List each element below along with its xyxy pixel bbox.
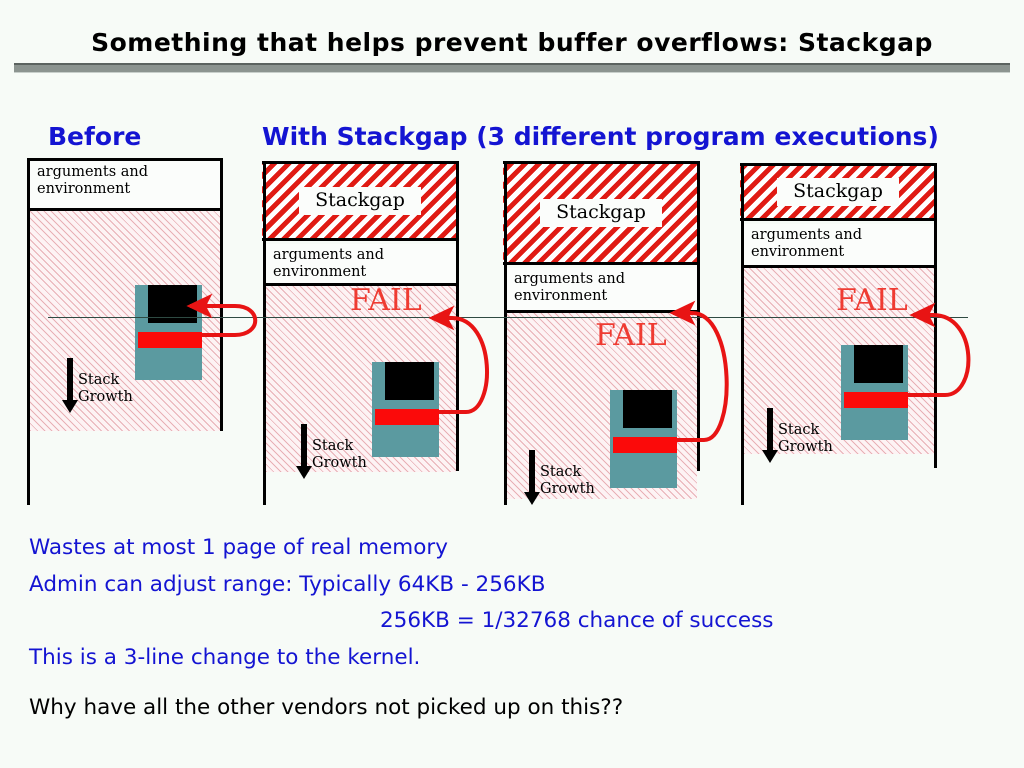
page-title: Something that helps prevent buffer over… (0, 28, 1024, 57)
col2-stack-frame (372, 362, 439, 457)
col4-right-rail (934, 163, 937, 468)
col4-args-env-label: arguments and environment (744, 224, 934, 271)
col4-stackgap-region: Stackgap (740, 163, 936, 221)
col4-stack-frame (841, 345, 908, 440)
col2-stackgap-label: Stackgap (299, 187, 421, 215)
col4-left-rail (741, 163, 744, 505)
col1-overflow-bar (138, 332, 202, 348)
col4-fail-label: FAIL (836, 283, 908, 318)
overflow-reference-line (48, 317, 968, 318)
col4-return-address-block (854, 345, 903, 383)
slide-canvas: Something that helps prevent buffer over… (0, 0, 1024, 768)
note-line-5: Why have all the other vendors not picke… (29, 695, 623, 720)
col2-return-address-block (385, 362, 434, 400)
col3-stack-growth-label: Stack Growth (540, 464, 595, 498)
col3-left-rail (504, 161, 507, 505)
col1-right-rail (220, 158, 223, 431)
col3-stackgap-label: Stackgap (540, 199, 662, 227)
col1-stack-growth-label: Stack Growth (78, 372, 133, 406)
col3-stackgap-region: Stackgap (503, 161, 699, 265)
note-line-2: Admin can adjust range: Typically 64KB -… (29, 572, 545, 597)
col2-right-rail (456, 161, 459, 471)
col1-stack-frame (135, 285, 202, 380)
col3-overflow-bar (613, 437, 677, 453)
heading-with-stackgap: With Stackgap (3 different program execu… (262, 122, 939, 151)
col1-left-rail (27, 158, 30, 505)
col3-return-address-block (623, 390, 672, 428)
col4-overflow-bar (844, 392, 908, 408)
heading-before: Before (48, 122, 141, 151)
col2-stackgap-region: Stackgap (262, 161, 458, 241)
col4-stackgap-label: Stackgap (777, 178, 899, 206)
title-divider (14, 63, 1010, 73)
col4-stack-growth-label: Stack Growth (778, 422, 833, 456)
col3-stack-frame (610, 390, 677, 488)
note-line-1: Wastes at most 1 page of real memory (29, 535, 448, 560)
col3-args-env-label: arguments and environment (507, 268, 697, 315)
col2-fail-label: FAIL (350, 283, 422, 318)
col2-overflow-bar (375, 409, 439, 425)
col2-stack-growth-label: Stack Growth (312, 438, 367, 472)
col3-fail-label: FAIL (595, 318, 667, 353)
col3-right-rail (697, 161, 700, 471)
col1-args-env-label: arguments and environment (30, 161, 220, 208)
note-line-4: This is a 3-line change to the kernel. (29, 645, 420, 670)
col2-left-rail (263, 161, 266, 505)
note-line-3: 256KB = 1/32768 chance of success (380, 608, 774, 633)
